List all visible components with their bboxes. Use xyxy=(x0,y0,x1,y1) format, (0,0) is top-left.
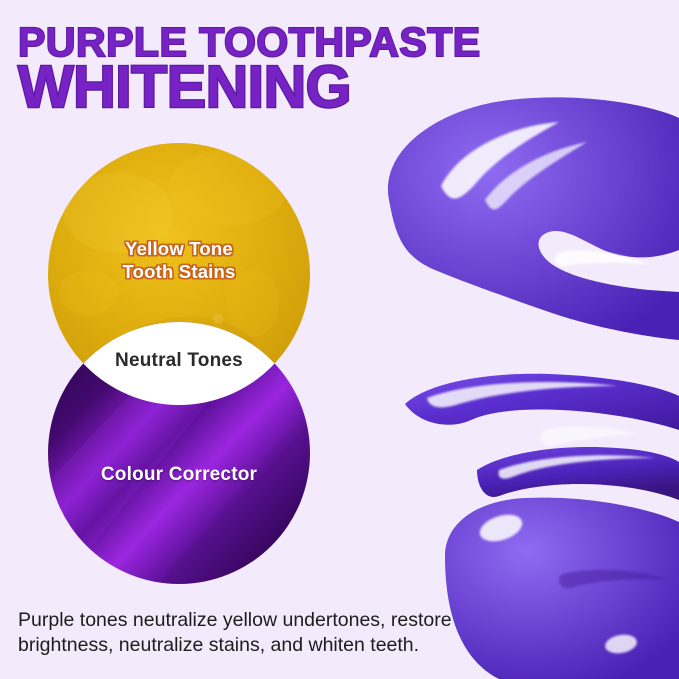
gel-shadow-lower xyxy=(559,570,669,589)
gel-highlight-notch xyxy=(555,250,649,266)
gel-arm-1-highlight xyxy=(427,382,617,407)
gel-blob-upper xyxy=(388,97,679,340)
gel-highlight-upper2 xyxy=(485,142,587,209)
gel-highlight-lower xyxy=(476,510,525,546)
gel-arm-2 xyxy=(477,447,679,500)
gel-highlight-upper xyxy=(441,122,559,198)
venn-diagram: Yellow Tone Tooth Stains Neutral Tones C… xyxy=(48,143,310,584)
headline-line-2: WHITENING xyxy=(18,60,498,114)
gel-arm-2-highlight xyxy=(499,455,655,478)
gel-arm-1 xyxy=(405,374,679,430)
caption-text: Purple tones neutralize yellow undertone… xyxy=(18,608,518,658)
gel-highlight-lower2 xyxy=(604,632,639,655)
gel-highlight-drip xyxy=(541,427,639,447)
headline: PURPLE TOOTHPASTE WHITENING xyxy=(18,24,498,114)
poster-canvas: PURPLE TOOTHPASTE WHITENING xyxy=(0,0,679,679)
